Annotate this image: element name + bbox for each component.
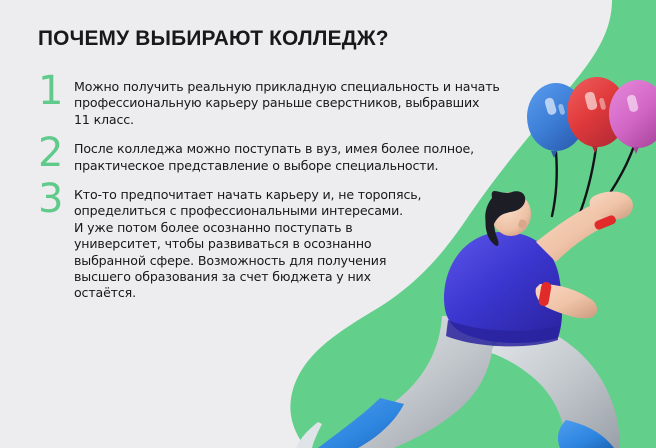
- reason-number-1: 1: [38, 73, 74, 110]
- reason-text-2: После колледжа можно поступать в вуз, им…: [74, 141, 506, 174]
- list-item: 2 После колледжа можно поступать в вуз, …: [38, 141, 508, 174]
- reason-text-3: Кто-то предпочитает начать карьеру и, не…: [74, 187, 506, 302]
- reason-text-1: Можно получить реальную прикладную специ…: [74, 79, 506, 128]
- reason-number-3: 3: [38, 181, 74, 218]
- slide-canvas: ПОЧЕМУ ВЫБИРАЮТ КОЛЛЕДЖ? 1 Можно получит…: [0, 0, 656, 448]
- list-item: 3 Кто-то предпочитает начать карьеру и, …: [38, 187, 508, 302]
- page-title: ПОЧЕМУ ВЫБИРАЮТ КОЛЛЕДЖ?: [38, 26, 389, 51]
- slide-content: ПОЧЕМУ ВЫБИРАЮТ КОЛЛЕДЖ? 1 Можно получит…: [0, 0, 656, 448]
- reason-number-2: 2: [38, 135, 74, 172]
- reasons-list: 1 Можно получить реальную прикладную спе…: [38, 79, 508, 302]
- list-item: 1 Можно получить реальную прикладную спе…: [38, 79, 508, 128]
